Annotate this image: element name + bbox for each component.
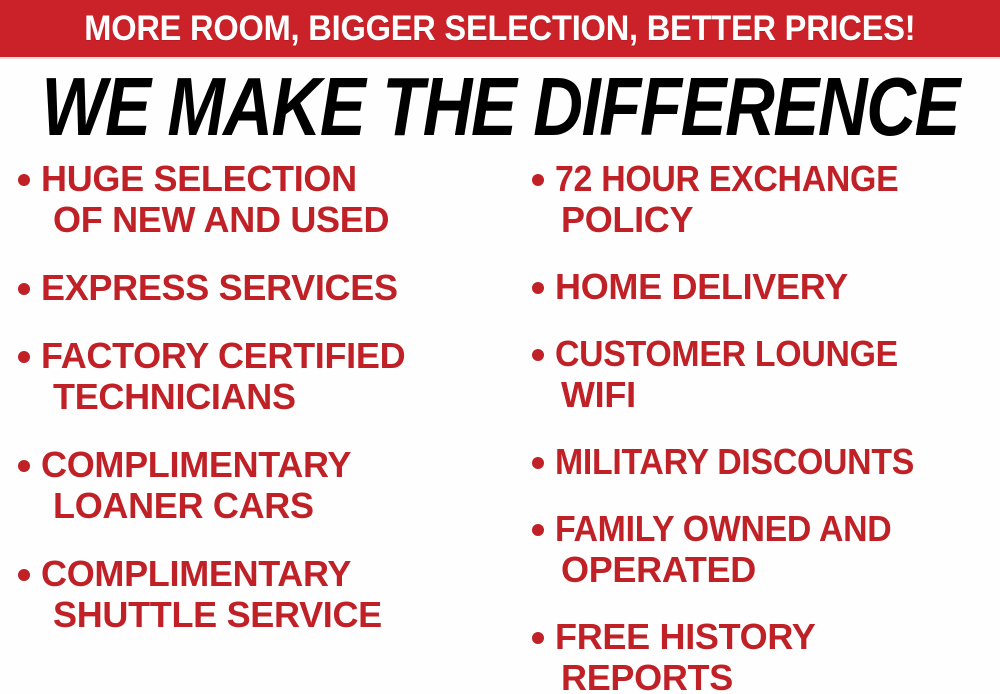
list-item-label: EXPRESS SERVICES [41, 267, 398, 308]
list-item-line-1: FAMILY OWNED AND [555, 508, 891, 549]
list-item-label: HUGE SELECTION OF NEW AND USED [41, 158, 389, 240]
list-item: FACTORY CERTIFIED TECHNICIANS [18, 335, 510, 417]
list-item-label: CUSTOMER LOUNGE WIFI [555, 333, 920, 415]
bullet-dot-icon [18, 569, 30, 581]
list-item-line-2: REPORTS [555, 657, 815, 694]
bullet-dot-icon [532, 632, 544, 644]
banner-underline-divider [0, 57, 1000, 59]
list-item: COMPLIMENTARY SHUTTLE SERVICE [18, 553, 510, 635]
page-title: WE MAKE THE DIFFERENCE [0, 68, 1000, 146]
list-item-label: COMPLIMENTARY SHUTTLE SERVICE [41, 553, 382, 635]
list-item-line-2: WIFI [555, 374, 920, 415]
list-item-line-1: FACTORY CERTIFIED [41, 335, 405, 376]
list-item: COMPLIMENTARY LOANER CARS [18, 444, 510, 526]
dealership-benefits-poster: MORE ROOM, BIGGER SELECTION, BETTER PRIC… [0, 0, 1000, 694]
list-item: 72 HOUR EXCHANGE POLICY [532, 158, 1000, 240]
top-banner: MORE ROOM, BIGGER SELECTION, BETTER PRIC… [0, 0, 1000, 57]
benefits-columns: HUGE SELECTION OF NEW AND USED EXPRESS S… [0, 158, 1000, 688]
list-item-line-2: SHUTTLE SERVICE [41, 594, 382, 635]
bullet-dot-icon [18, 174, 30, 186]
list-item-line-1: HUGE SELECTION [41, 158, 357, 199]
bullet-dot-icon [18, 351, 30, 363]
list-item-label: FACTORY CERTIFIED TECHNICIANS [41, 335, 405, 417]
list-item-line-2: POLICY [555, 199, 920, 240]
list-item: HOME DELIVERY [532, 266, 1000, 307]
bullet-dot-icon [532, 524, 544, 536]
list-item-label: FREE HISTORY REPORTS [555, 616, 815, 694]
bullet-dot-icon [532, 457, 544, 469]
bullet-dot-icon [18, 460, 30, 472]
list-item: FREE HISTORY REPORTS [532, 616, 1000, 694]
banner-headline-text: MORE ROOM, BIGGER SELECTION, BETTER PRIC… [84, 11, 915, 47]
list-item: CUSTOMER LOUNGE WIFI [532, 333, 1000, 415]
list-item-line-1: FREE HISTORY [555, 616, 815, 657]
list-item-line-2: TECHNICIANS [41, 376, 405, 417]
list-item-line-2: OF NEW AND USED [41, 199, 389, 240]
list-item-line-2: LOANER CARS [41, 485, 351, 526]
bullet-dot-icon [532, 349, 544, 361]
list-item-label: MILITARY DISCOUNTS [555, 441, 937, 482]
list-item-line-1: COMPLIMENTARY [41, 553, 351, 594]
bullet-dot-icon [532, 174, 544, 186]
list-item-line-1: 72 HOUR EXCHANGE [555, 158, 898, 199]
list-item-label: COMPLIMENTARY LOANER CARS [41, 444, 351, 526]
list-item: HUGE SELECTION OF NEW AND USED [18, 158, 510, 240]
bullet-dot-icon [532, 282, 544, 294]
list-item-line-1: MILITARY DISCOUNTS [555, 441, 914, 482]
list-item-line-2: OPERATED [555, 549, 913, 590]
list-item-label: FAMILY OWNED AND OPERATED [555, 508, 913, 590]
list-item-line-1: COMPLIMENTARY [41, 444, 351, 485]
list-item: FAMILY OWNED AND OPERATED [532, 508, 1000, 590]
benefits-column-left: HUGE SELECTION OF NEW AND USED EXPRESS S… [0, 158, 510, 662]
bullet-dot-icon [18, 283, 30, 295]
list-item-line-1: EXPRESS SERVICES [41, 267, 398, 308]
list-item: MILITARY DISCOUNTS [532, 441, 1000, 482]
page-title-text: WE MAKE THE DIFFERENCE [41, 63, 959, 150]
list-item-label: 72 HOUR EXCHANGE POLICY [555, 158, 920, 240]
list-item-line-1: HOME DELIVERY [555, 266, 848, 307]
list-item: EXPRESS SERVICES [18, 267, 510, 308]
list-item-label: HOME DELIVERY [555, 266, 848, 307]
benefits-column-right: 72 HOUR EXCHANGE POLICY HOME DELIVERY CU… [510, 158, 1000, 694]
list-item-line-1: CUSTOMER LOUNGE [555, 333, 898, 374]
